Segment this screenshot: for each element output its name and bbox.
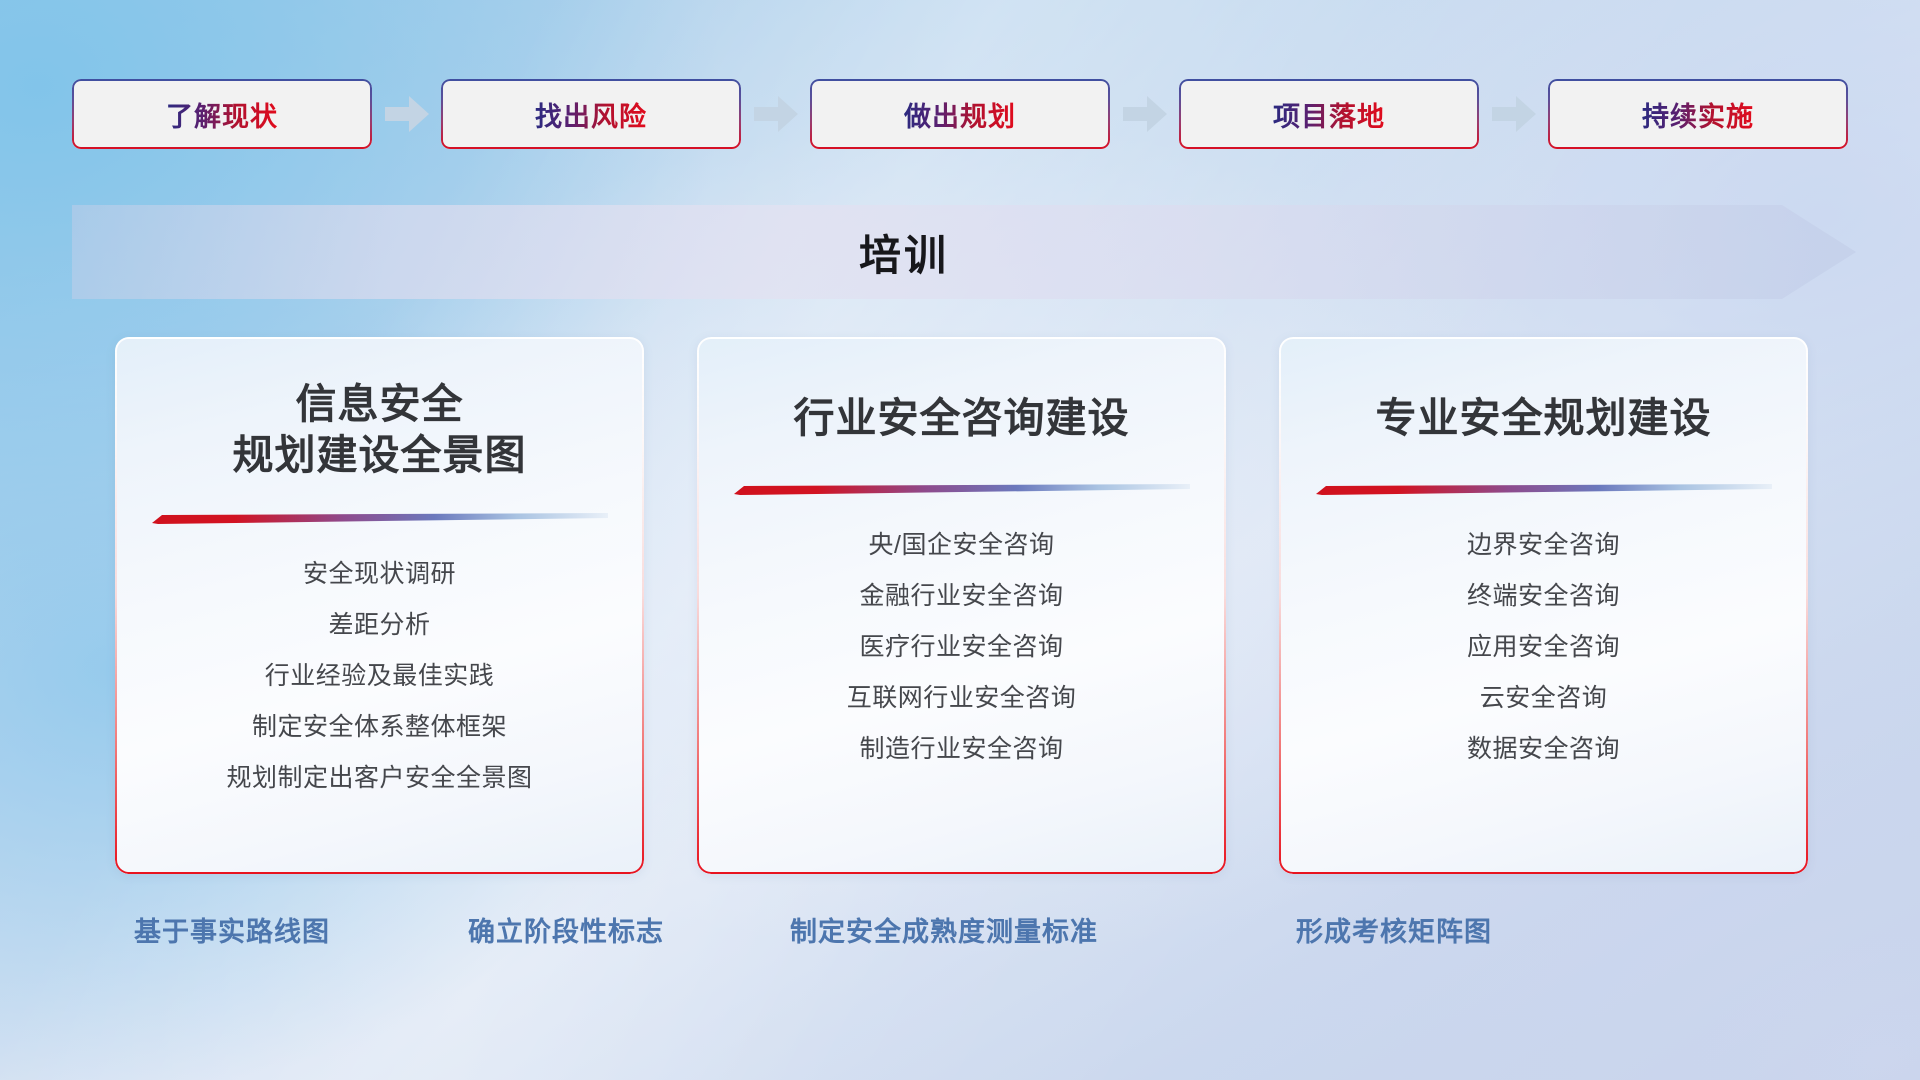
card-title-1: 信息安全 规划建设全景图 bbox=[233, 379, 527, 481]
list-item: 制定安全体系整体框架 bbox=[141, 715, 618, 740]
card-row: 信息安全 规划建设全景图 bbox=[115, 337, 1808, 874]
gradient-divider-icon bbox=[152, 513, 608, 524]
list-item: 云安全咨询 bbox=[1305, 686, 1782, 711]
card-list-1: 安全现状调研 差距分析 行业经验及最佳实践 制定安全体系整体框架 规划制定出客户… bbox=[141, 562, 618, 817]
step-box-2[interactable]: 找出风险 bbox=[441, 79, 741, 149]
step-label-1: 了解现状 bbox=[166, 95, 278, 134]
card-professional-security-planning[interactable]: 专业安全规划建设 bbox=[1279, 337, 1808, 874]
card-list-3: 边界安全咨询 终端安全咨询 应用安全咨询 云安全咨询 数据安全咨询 bbox=[1305, 533, 1782, 788]
step-label-2: 找出风险 bbox=[535, 95, 647, 134]
step-label-5: 持续实施 bbox=[1642, 95, 1754, 134]
card-list-2: 央/国企安全咨询 金融行业安全咨询 医疗行业安全咨询 互联网行业安全咨询 制造行… bbox=[723, 533, 1200, 788]
list-item: 终端安全咨询 bbox=[1305, 584, 1782, 609]
process-step-row: 了解现状 找出风险 做出规划 项目落地 持续实施 bbox=[72, 78, 1848, 150]
gradient-divider-icon bbox=[1316, 484, 1772, 495]
list-item: 制造行业安全咨询 bbox=[723, 737, 1200, 762]
card-information-security-blueprint[interactable]: 信息安全 规划建设全景图 bbox=[115, 337, 644, 874]
gradient-divider-icon bbox=[734, 484, 1190, 495]
training-banner: 培训 bbox=[72, 205, 1856, 299]
footer-label-3: 制定安全成熟度测量标准 bbox=[790, 910, 1098, 949]
card-title-1-line-1: 信息安全 bbox=[233, 379, 527, 430]
footer-label-1: 基于事实路线图 bbox=[134, 910, 330, 949]
list-item: 安全现状调研 bbox=[141, 562, 618, 587]
step-arrow-1 bbox=[372, 96, 441, 132]
list-item: 应用安全咨询 bbox=[1305, 635, 1782, 660]
card-title-1-line-2: 规划建设全景图 bbox=[233, 430, 527, 481]
step-arrow-4 bbox=[1479, 96, 1548, 132]
step-box-4[interactable]: 项目落地 bbox=[1179, 79, 1479, 149]
card-title-2: 行业安全咨询建设 bbox=[794, 393, 1130, 444]
banner-title: 培训 bbox=[72, 205, 1856, 299]
card-title-3-line-1: 专业安全规划建设 bbox=[1376, 393, 1712, 444]
card-title-3: 专业安全规划建设 bbox=[1376, 393, 1712, 444]
step-box-5[interactable]: 持续实施 bbox=[1548, 79, 1848, 149]
step-box-3[interactable]: 做出规划 bbox=[810, 79, 1110, 149]
list-item: 央/国企安全咨询 bbox=[723, 533, 1200, 558]
step-arrow-3 bbox=[1110, 96, 1179, 132]
footer-label-row: 基于事实路线图 确立阶段性标志 制定安全成熟度测量标准 形成考核矩阵图 bbox=[0, 910, 1920, 970]
list-item: 互联网行业安全咨询 bbox=[723, 686, 1200, 711]
list-item: 差距分析 bbox=[141, 613, 618, 638]
footer-label-2: 确立阶段性标志 bbox=[468, 910, 664, 949]
step-box-1[interactable]: 了解现状 bbox=[72, 79, 372, 149]
card-title-2-line-1: 行业安全咨询建设 bbox=[794, 393, 1130, 444]
list-item: 行业经验及最佳实践 bbox=[141, 664, 618, 689]
step-arrow-2 bbox=[741, 96, 810, 132]
list-item: 数据安全咨询 bbox=[1305, 737, 1782, 762]
list-item: 边界安全咨询 bbox=[1305, 533, 1782, 558]
step-label-4: 项目落地 bbox=[1273, 95, 1385, 134]
list-item: 规划制定出客户安全全景图 bbox=[141, 766, 618, 791]
list-item: 金融行业安全咨询 bbox=[723, 584, 1200, 609]
step-label-3: 做出规划 bbox=[904, 95, 1016, 134]
footer-label-4: 形成考核矩阵图 bbox=[1296, 910, 1492, 949]
card-industry-security-consulting[interactable]: 行业安全咨询建设 bbox=[697, 337, 1226, 874]
list-item: 医疗行业安全咨询 bbox=[723, 635, 1200, 660]
